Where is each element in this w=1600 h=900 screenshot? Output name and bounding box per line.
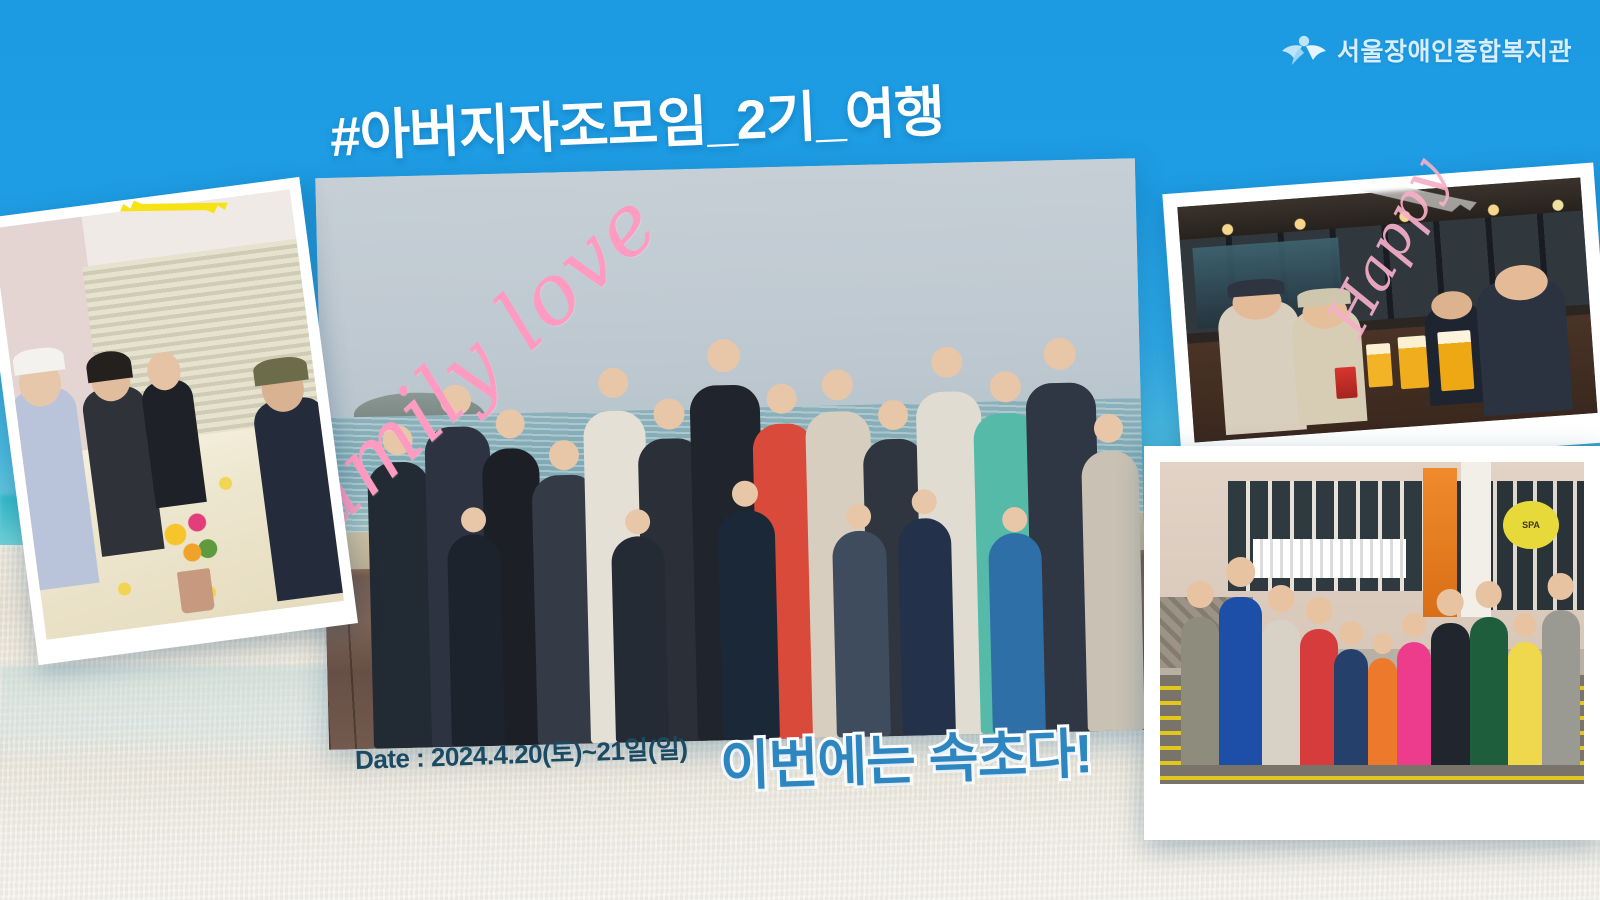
event-headline: 이번에는 속초다! <box>719 709 1093 801</box>
person-figure <box>832 530 890 737</box>
photo-spa-entrance-group[interactable]: SPA <box>1144 446 1600 840</box>
person-figure <box>988 532 1046 733</box>
entrance-canopy <box>1253 539 1406 578</box>
person-figure <box>1334 649 1368 765</box>
person-figure <box>1368 658 1398 764</box>
person-figure <box>1508 642 1542 764</box>
photo-crowd <box>315 158 1149 750</box>
person-figure <box>1300 629 1338 764</box>
person-figure <box>1081 450 1145 732</box>
flower-vase <box>177 568 215 613</box>
photo-restaurant-bar[interactable] <box>1162 163 1600 474</box>
photo-spa-entrance-image: SPA <box>1160 462 1584 784</box>
person-figure <box>1262 620 1300 765</box>
person-figure <box>1431 623 1469 765</box>
person-figure <box>1397 642 1431 764</box>
organization-logo: 서울장애인종합복지관 <box>1281 32 1572 68</box>
person-figure <box>447 534 505 747</box>
person-figure <box>717 510 780 740</box>
spa-sign: SPA <box>1503 501 1558 549</box>
person-figure <box>1181 617 1219 765</box>
person-figure <box>1219 597 1261 764</box>
winged-person-icon <box>1281 32 1327 68</box>
beer-mug <box>1366 343 1393 387</box>
photo-main-group-beach[interactable]: family love <box>315 158 1149 750</box>
beer-mug <box>1398 336 1430 390</box>
logo-text: 서울장애인종합복지관 <box>1337 32 1572 68</box>
person-figure <box>1542 610 1580 765</box>
person-figure <box>1470 617 1508 765</box>
beer-mug <box>1438 330 1475 391</box>
photo-restaurant-bar-image <box>1177 178 1597 443</box>
person-figure <box>611 536 669 743</box>
photo-meeting-room-image <box>0 189 344 640</box>
person-figure <box>898 517 957 736</box>
photo-meeting-room[interactable] <box>0 177 358 665</box>
soda-can <box>1335 367 1357 399</box>
